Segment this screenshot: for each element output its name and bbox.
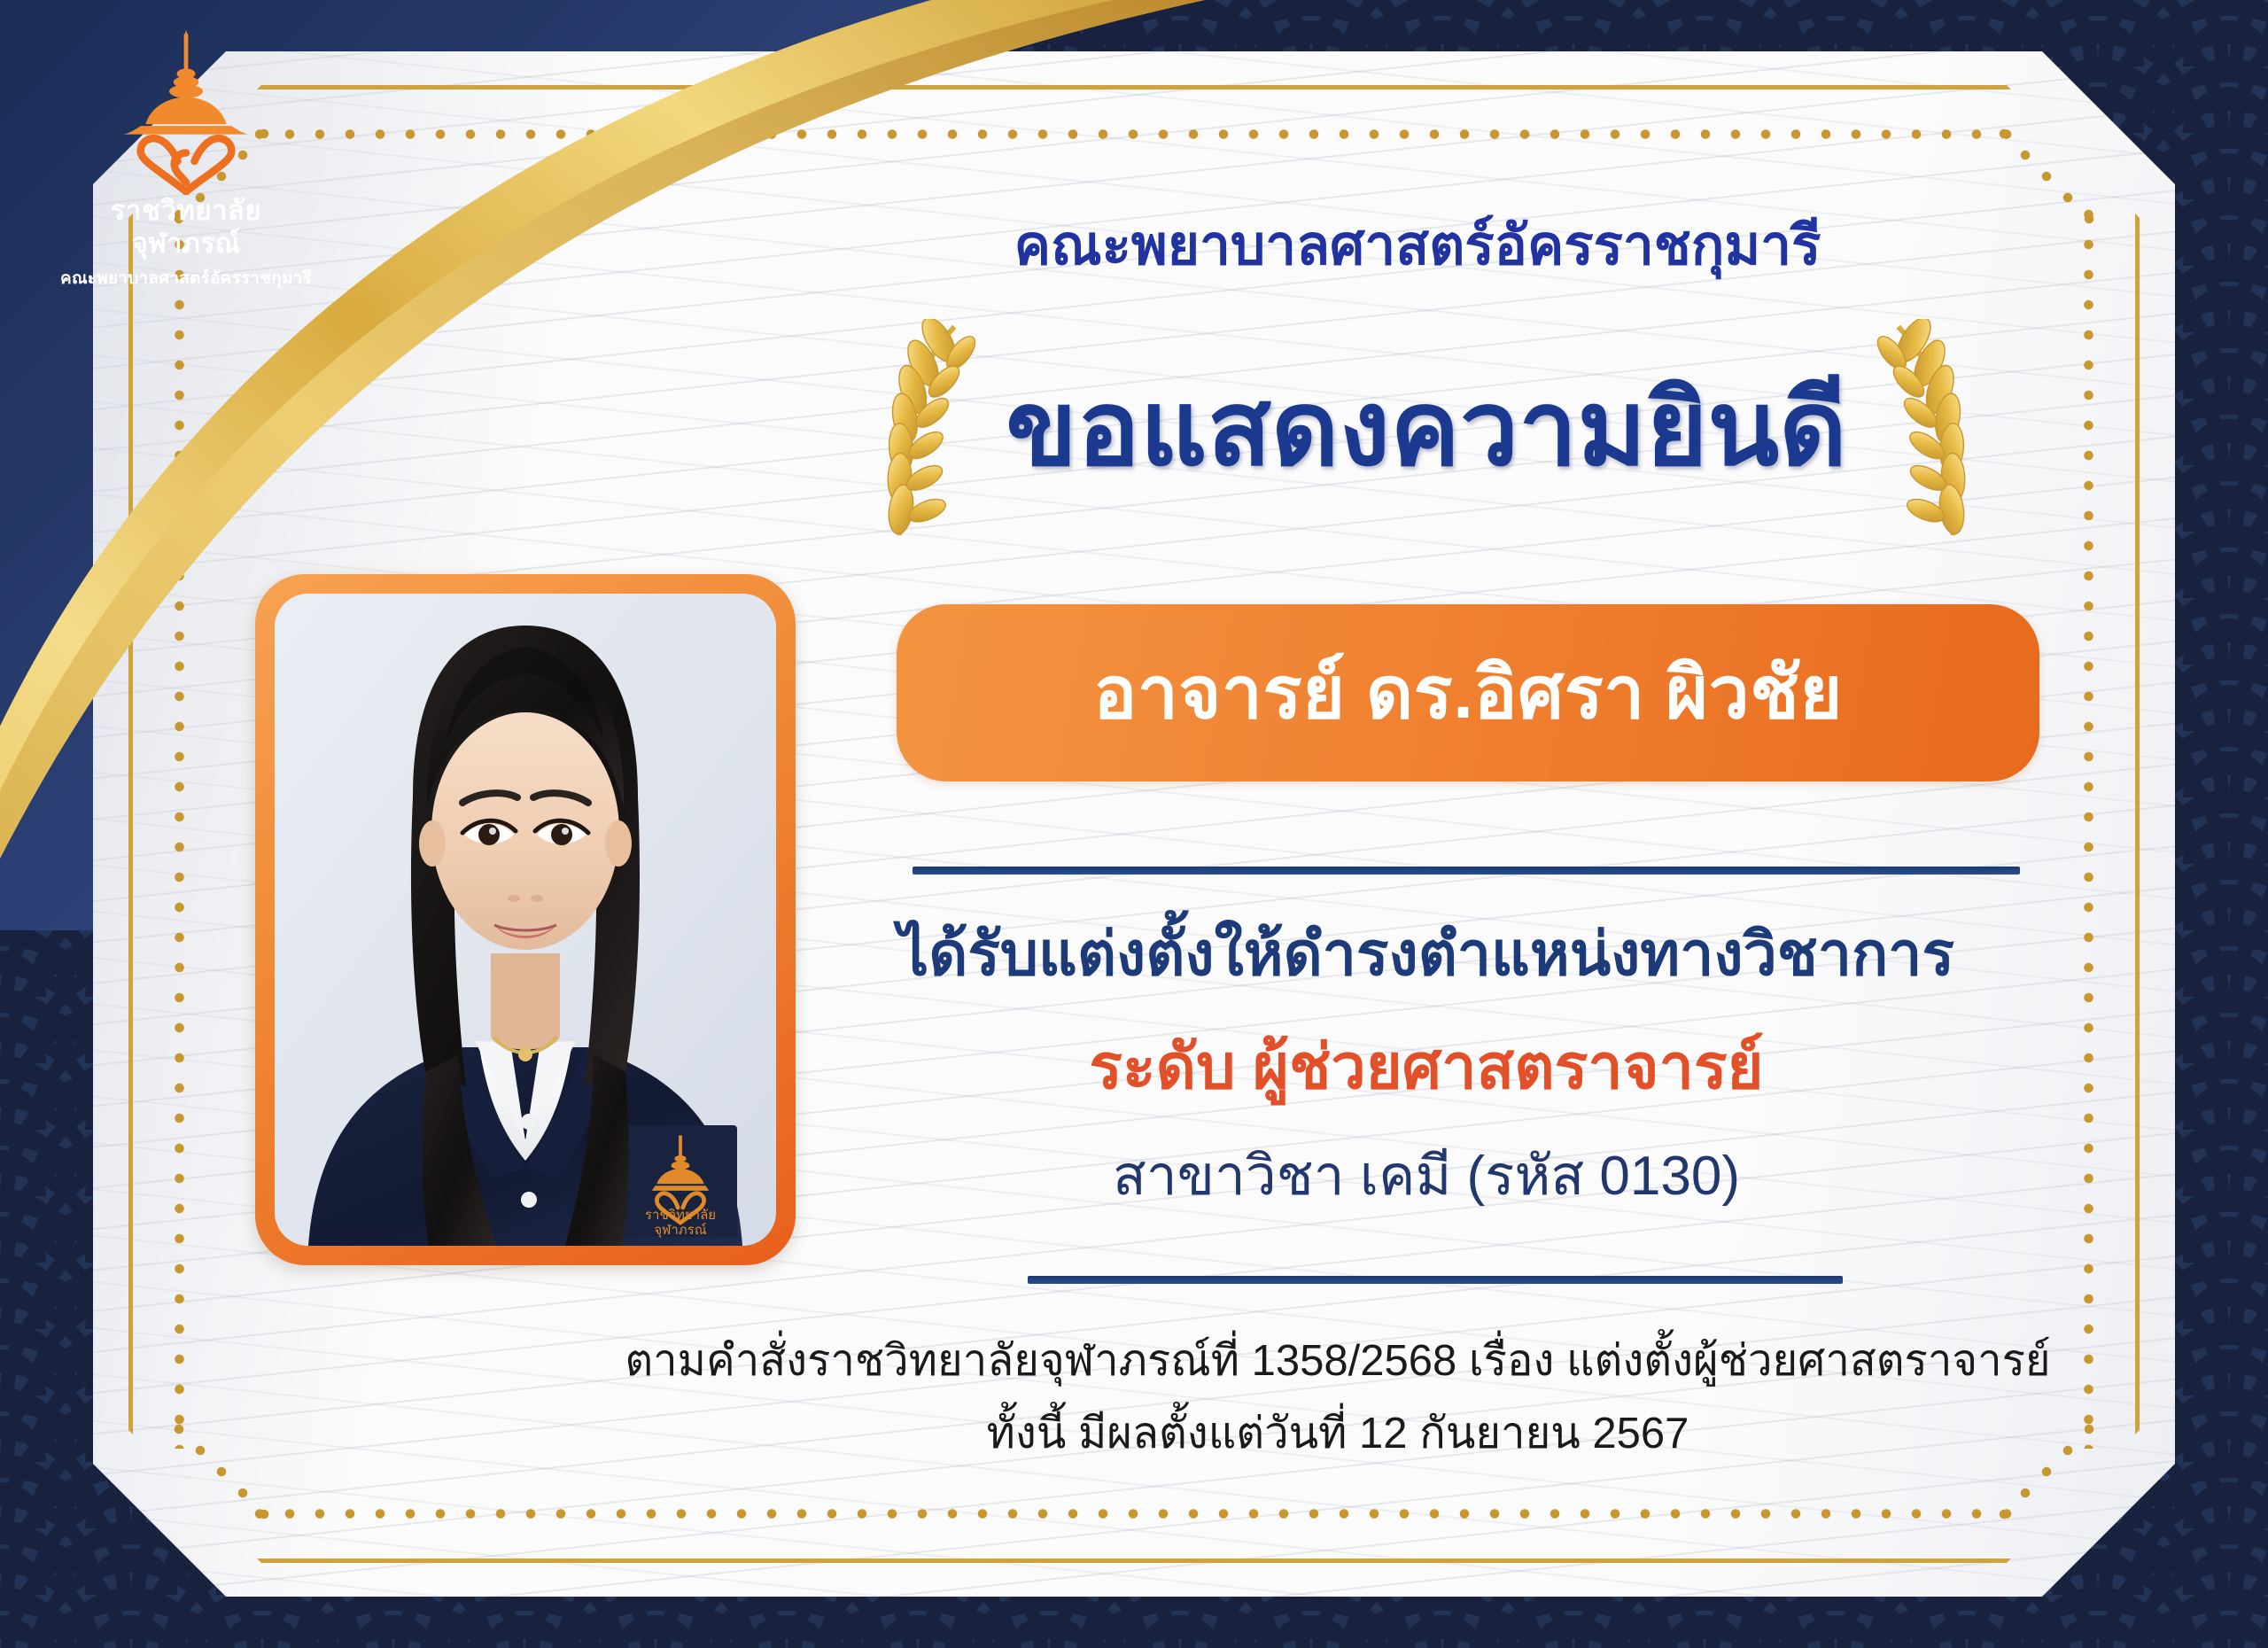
rank-line: ระดับ ผู้ช่วยศาสตราจารย์ bbox=[780, 1017, 2073, 1116]
honoree-name-banner: อาจารย์ ดร.อิศรา ผิวชัย bbox=[897, 604, 2039, 781]
laurel-branch-right-icon bbox=[1863, 319, 1996, 540]
logo-line-2: จุฬาภรณ์ bbox=[40, 228, 332, 260]
institution-logo: ราชวิทยาลัย จุฬาภรณ์ คณะพยาบาลศาสตร์อัคร… bbox=[40, 27, 332, 292]
congratulations-text: ขอแสดงความยินดี bbox=[1006, 375, 1847, 485]
field-line: สาขาวิชา เคมี (รหัส 0130) bbox=[780, 1132, 2073, 1219]
portrait-photo: ราชวิทยาลัย จุฬาภรณ์ bbox=[275, 594, 776, 1246]
appointment-line: ได้รับแต่งตั้งให้ดำรงตำแหน่งทางวิชาการ bbox=[780, 906, 2073, 1001]
faculty-title: คณะพยาบาลศาสตร์อัครราชกุมารี bbox=[780, 202, 2055, 289]
logo-line-1: ราชวิทยาลัย bbox=[40, 195, 332, 228]
order-reference-line: ตามคำสั่งราชวิทยาลัยจุฬาภรณ์ที่ 1358/256… bbox=[496, 1325, 2179, 1395]
portrait-frame: ราชวิทยาลัย จุฬาภรณ์ bbox=[255, 574, 796, 1265]
logo-line-3: คณะพยาบาลศาสตร์อัครราชกุมารี bbox=[40, 265, 332, 292]
honoree-name: อาจารย์ ดร.อิศรา ผิวชัย bbox=[1093, 635, 1843, 750]
divider-bottom bbox=[1028, 1276, 1843, 1284]
svg-text:จุฬาภรณ์: จุฬาภรณ์ bbox=[654, 1223, 706, 1239]
portrait-illustration: ราชวิทยาลัย จุฬาภรณ์ bbox=[275, 594, 776, 1246]
chulabhorn-royal-academy-crest-icon bbox=[102, 27, 270, 195]
congratulations-block: ขอแสดงความยินดี bbox=[824, 319, 2029, 540]
effective-date-line: ทั้งนี้ มีผลตั้งแต่วันที่ 12 กันยายน 256… bbox=[496, 1398, 2179, 1467]
laurel-branch-left-icon bbox=[857, 319, 990, 540]
svg-text:ราชวิทยาลัย: ราชวิทยาลัย bbox=[645, 1208, 716, 1223]
certificate-canvas: ราชวิทยาลัย จุฬาภรณ์ คณะพยาบาลศาสตร์อัคร… bbox=[0, 0, 2268, 1648]
divider-top bbox=[913, 867, 2020, 875]
